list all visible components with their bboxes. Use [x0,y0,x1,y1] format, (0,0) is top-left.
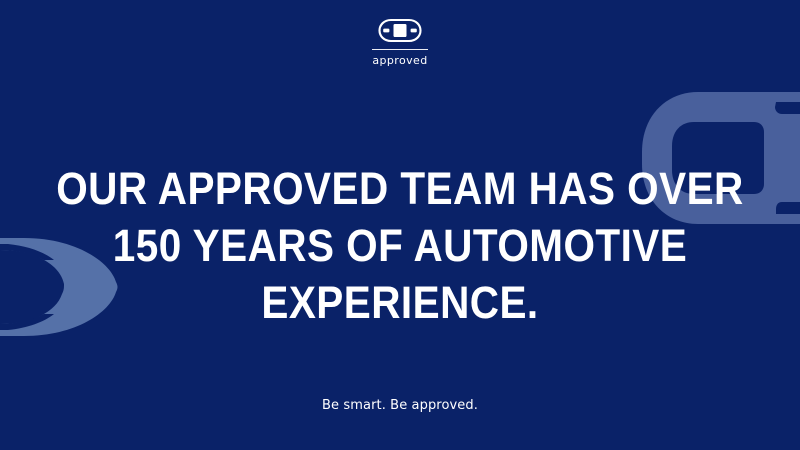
headline-line-3: EXPERIENCE. [40,274,760,331]
car-top-view-icon [378,18,422,43]
headline-line-1: OUR APPROVED TEAM HAS OVER [40,160,760,217]
brand-logo: approved [0,18,800,67]
headline-line-2: 150 YEARS OF AUTOMOTIVE [40,217,760,274]
page-title: OUR APPROVED TEAM HAS OVER 150 YEARS OF … [0,160,800,331]
slide-canvas: approved OUR APPROVED TEAM HAS OVER 150 … [0,0,800,450]
logo-wordmark: approved [372,54,427,67]
logo-divider-rule [372,49,428,50]
brand-tagline: Be smart. Be approved. [0,398,800,413]
